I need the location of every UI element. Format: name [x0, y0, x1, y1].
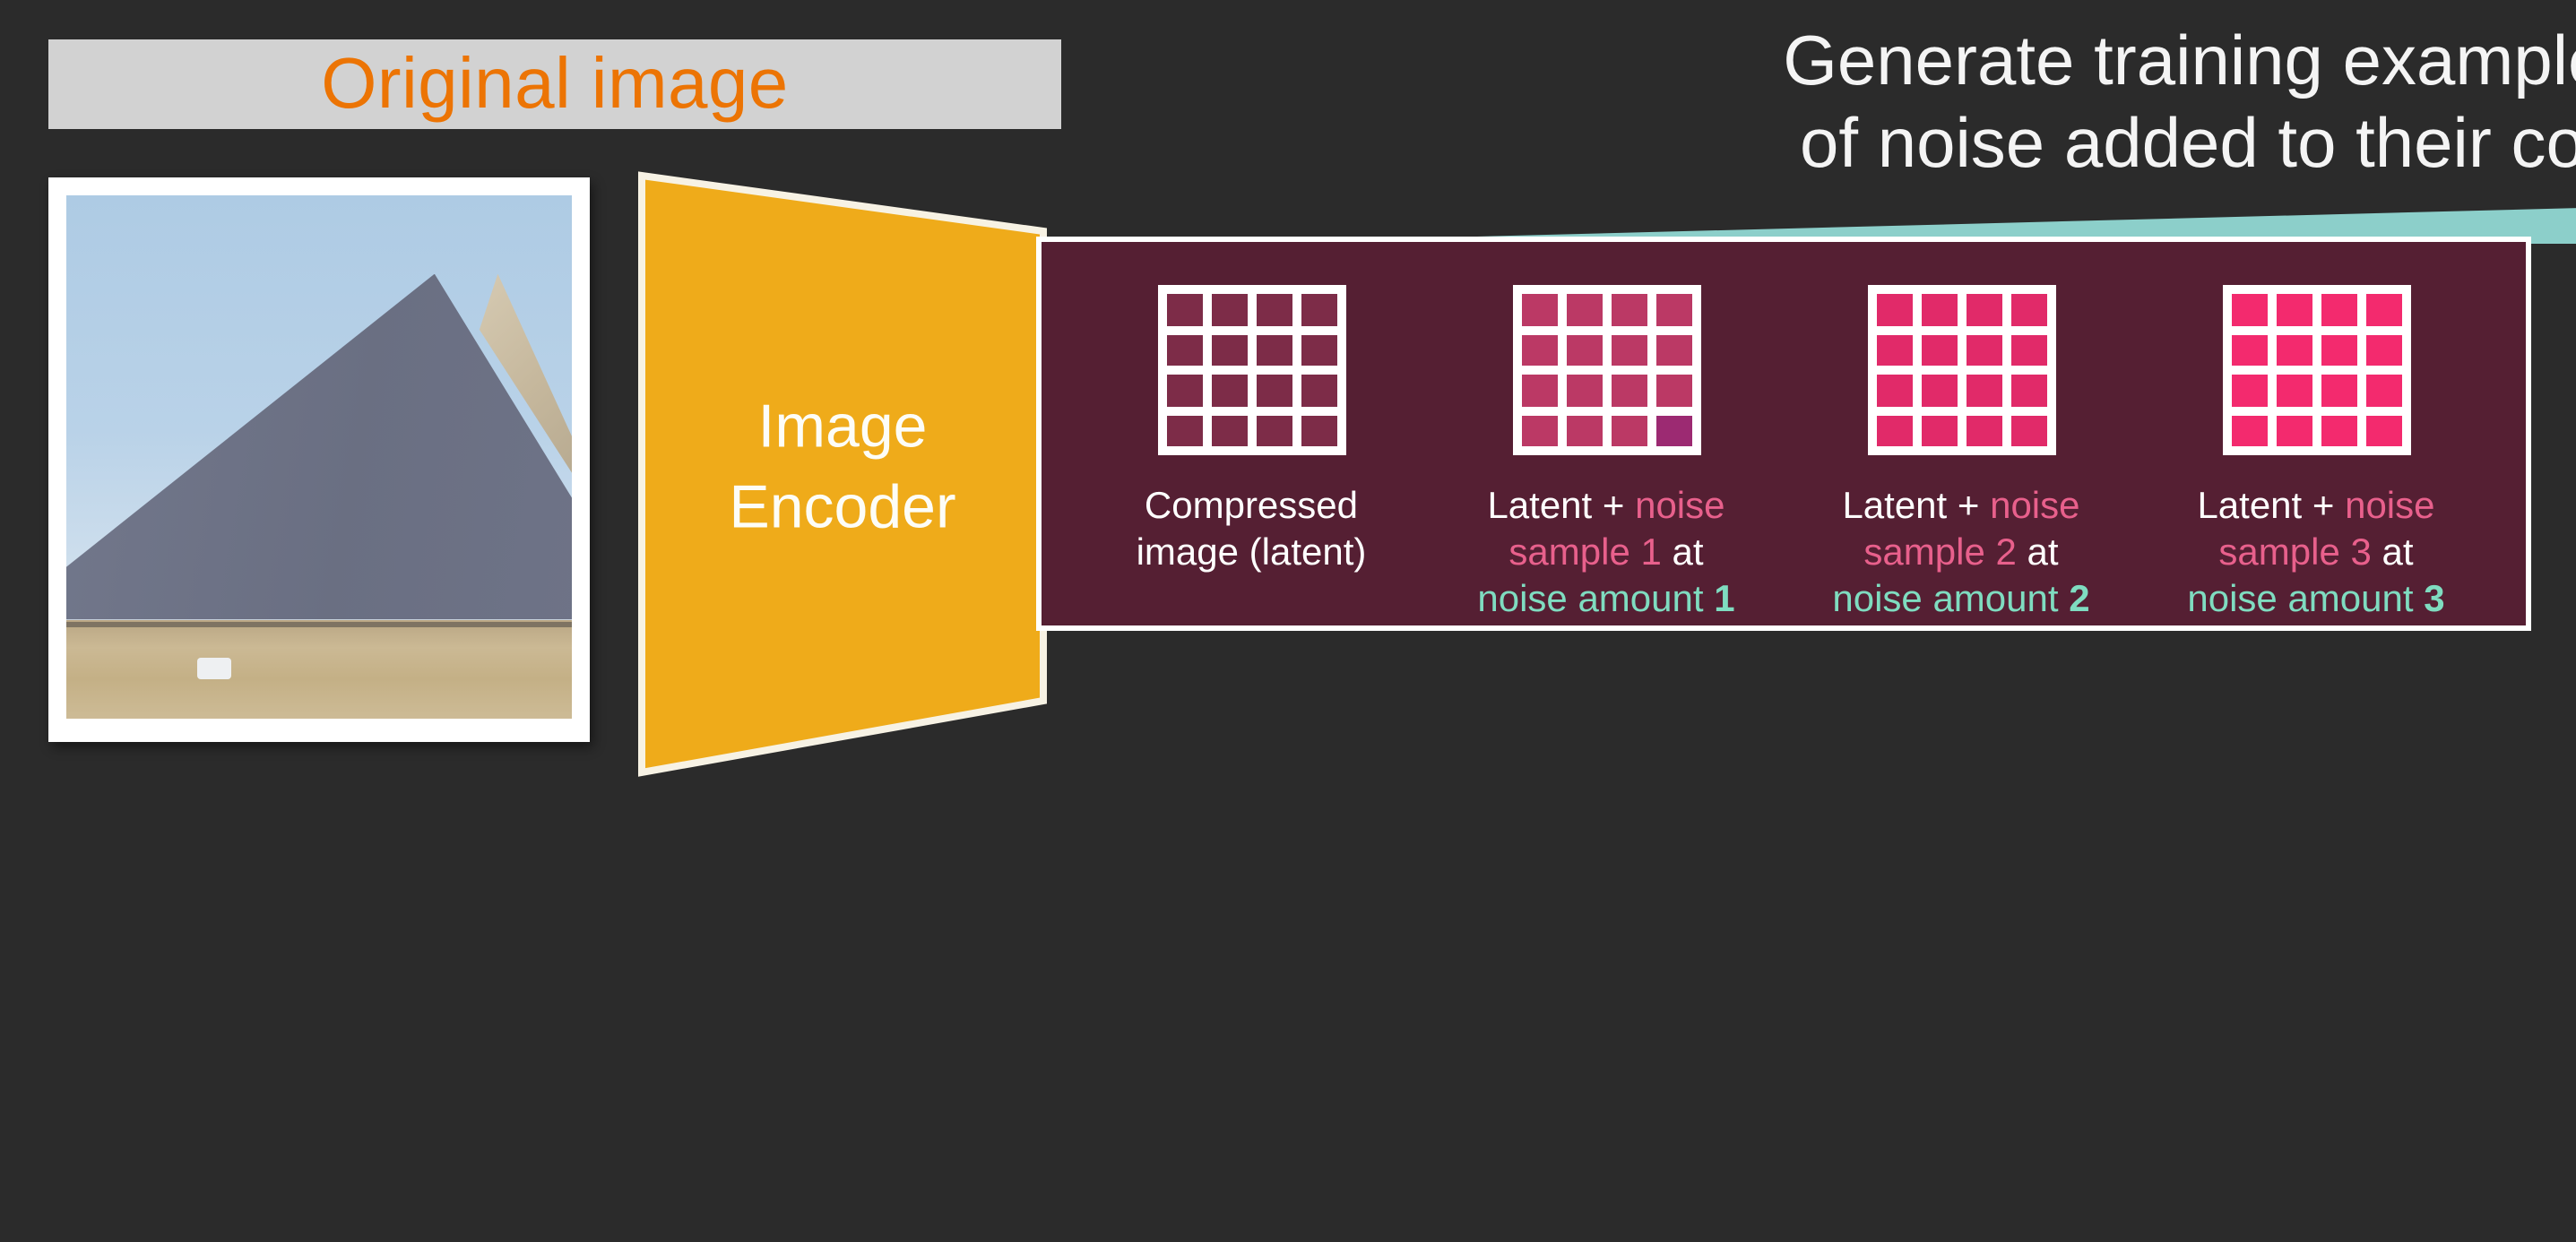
latent-item-compressed: Compressed image (latent) — [1074, 285, 1429, 577]
page-title-line1: Generate training examples with differen… — [1147, 22, 2576, 104]
caption-pink-2: sample 1 — [1508, 532, 1661, 574]
latent-item-noise-1: Latent + noise sample 1 at noise amount … — [1429, 285, 1784, 624]
wedge-shape — [1147, 165, 2576, 247]
latent-caption-compressed: Compressed image (latent) — [1137, 484, 1367, 577]
caption-line-1: Compressed — [1137, 484, 1367, 530]
latent-caption-noise-1: Latent + noise sample 1 at noise amount … — [1477, 484, 1734, 624]
caption-line-2: image (latent) — [1137, 530, 1367, 577]
latent-examples-panel: Compressed image (latent) Latent + noise… — [1036, 237, 2531, 631]
latent-grid-noise-1 — [1512, 285, 1700, 455]
desert-sand — [66, 619, 572, 719]
caption-pink-1: noise — [1635, 486, 1725, 527]
caption-line-2: sample 1 at — [1477, 530, 1734, 577]
caption-line-1: Latent + noise — [1477, 484, 1734, 530]
latent-caption-noise-3: Latent + noise sample 3 at noise amount … — [2187, 484, 2444, 624]
latent-item-noise-2: Latent + noise sample 2 at noise amount … — [1784, 285, 2139, 624]
caption-white-1: Latent + — [1842, 486, 1990, 527]
caption-line-1: Latent + noise — [2187, 484, 2444, 530]
latent-grid-noise-3 — [2222, 285, 2410, 455]
caption-line-1: Latent + noise — [1832, 484, 2089, 530]
latent-item-noise-3: Latent + noise sample 3 at noise amount … — [2139, 285, 2494, 624]
caption-white-1: Latent + — [1487, 486, 1635, 527]
horizon-line — [66, 622, 572, 627]
original-image-label: Original image — [48, 39, 1061, 129]
increasing-noise-wedge — [1147, 165, 2576, 247]
page-title: Generate training examples with differen… — [1147, 22, 2576, 186]
caption-noise-amount-value: 1 — [1714, 579, 1734, 620]
caption-white-2: at — [2017, 532, 2059, 574]
caption-teal-3: noise amount — [2187, 579, 2424, 620]
caption-teal-3: noise amount — [1477, 579, 1714, 620]
caption-white-2: at — [1662, 532, 1704, 574]
latent-grid-noise-2 — [1867, 285, 2055, 455]
latent-accent-cell — [1655, 415, 1691, 446]
caption-noise-amount-value: 2 — [2069, 579, 2089, 620]
encoder-trapezoid-shape — [627, 154, 1058, 781]
caption-line-2: sample 2 at — [1832, 530, 2089, 577]
caption-line-3: noise amount 3 — [2187, 577, 2444, 624]
latent-caption-noise-2: Latent + noise sample 2 at noise amount … — [1832, 484, 2089, 624]
white-van — [198, 658, 231, 680]
image-encoder-block: Image Encoder — [627, 154, 1058, 781]
caption-pink-2: sample 2 — [1863, 532, 2016, 574]
caption-line-3: noise amount 1 — [1477, 577, 1734, 624]
caption-white-2: at — [2372, 532, 2414, 574]
original-image-frame — [48, 177, 590, 742]
caption-line-3: noise amount 2 — [1832, 577, 2089, 624]
caption-white-1: Latent + — [2197, 486, 2345, 527]
original-image-label-text: Original image — [321, 48, 788, 120]
pyramid-photo — [66, 195, 572, 719]
caption-pink-2: sample 3 — [2218, 532, 2371, 574]
caption-noise-amount-value: 3 — [2424, 579, 2444, 620]
latent-examples-row: Compressed image (latent) Latent + noise… — [1042, 242, 2526, 625]
caption-pink-1: noise — [2345, 486, 2434, 527]
caption-teal-3: noise amount — [1832, 579, 2069, 620]
diagram-canvas: Original image Image Encoder Generate tr… — [0, 0, 2576, 756]
latent-grid-compressed — [1157, 285, 1345, 455]
caption-line-2: sample 3 at — [2187, 530, 2444, 577]
caption-pink-1: noise — [1990, 486, 2079, 527]
